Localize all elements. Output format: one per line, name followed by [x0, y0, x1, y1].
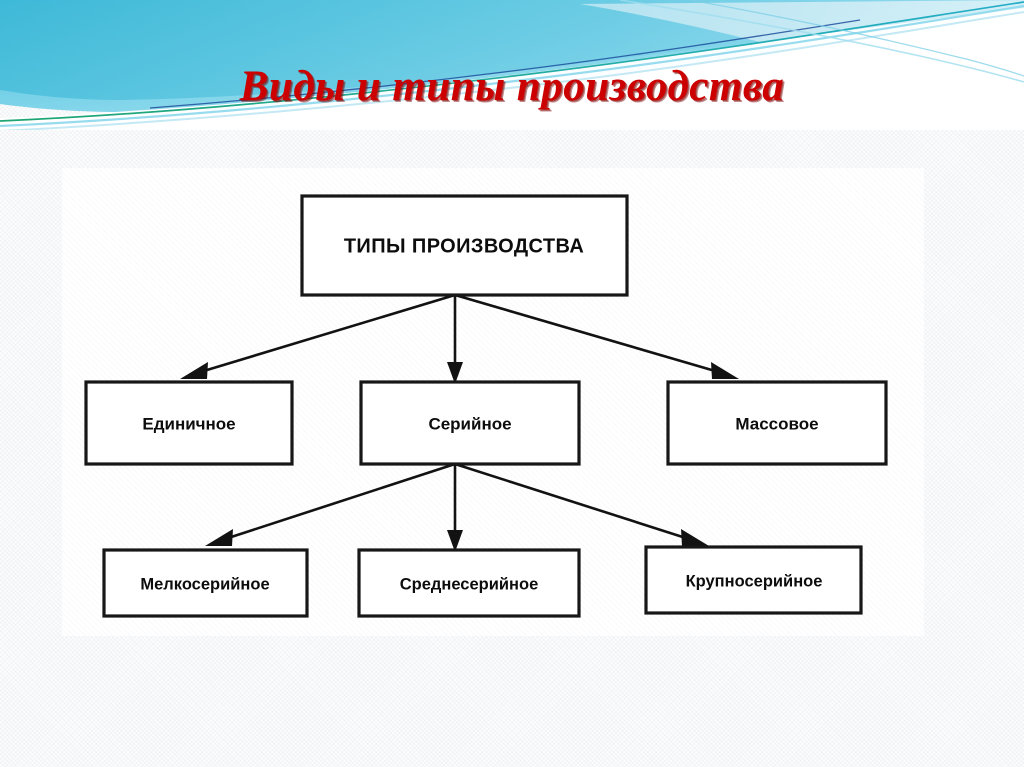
- connector-seriynoe-to-melkoseriynoe: [222, 464, 455, 540]
- node-krupnoseriynoe[interactable]: Крупносерийное: [646, 547, 861, 613]
- slide-canvas: Виды и типы производства: [0, 0, 1024, 767]
- arrowhead-seriynoe-to-melkoseriynoe: [205, 529, 233, 546]
- arrowhead-root-to-massovoe: [711, 362, 739, 379]
- connector-root-to-edinichnoe: [197, 295, 455, 373]
- node-edinichnoe[interactable]: Единичное: [86, 382, 292, 464]
- page-title: Виды и типы производства: [0, 62, 1024, 111]
- node-edinichnoe-label: Единичное: [142, 414, 235, 433]
- node-srednesiriynoe-label: Среднесерийное: [400, 575, 539, 593]
- node-srednesiriynoe[interactable]: Среднесерийное: [359, 550, 579, 616]
- node-root-label: ТИПЫ ПРОИЗВОДСТВА: [344, 235, 584, 257]
- node-melkoseriynoe-label: Мелкосерийное: [140, 575, 269, 593]
- arrowhead-root-to-edinichnoe: [180, 362, 208, 379]
- hierarchy-diagram: ТИПЫ ПРОИЗВОДСТВА Единичное Серийное Мас…: [62, 168, 924, 636]
- connector-root-to-massovoe: [455, 295, 722, 373]
- node-massovoe-label: Массовое: [735, 414, 818, 433]
- connector-group-seriynoe: [205, 464, 709, 552]
- arrowhead-seriynoe-to-krupnoseriynoe: [681, 529, 709, 546]
- node-melkoseriynoe[interactable]: Мелкосерийное: [104, 550, 307, 616]
- node-seriynoe[interactable]: Серийное: [361, 382, 579, 464]
- node-root[interactable]: ТИПЫ ПРОИЗВОДСТВА: [302, 196, 627, 295]
- node-krupnoseriynoe-label: Крупносерийное: [686, 572, 823, 590]
- node-seriynoe-label: Серийное: [428, 414, 511, 433]
- connector-seriynoe-to-krupnoseriynoe: [455, 464, 692, 540]
- node-massovoe[interactable]: Массовое: [668, 382, 886, 464]
- connector-group-root: [180, 295, 739, 384]
- diagram-panel: ТИПЫ ПРОИЗВОДСТВА Единичное Серийное Мас…: [62, 168, 924, 636]
